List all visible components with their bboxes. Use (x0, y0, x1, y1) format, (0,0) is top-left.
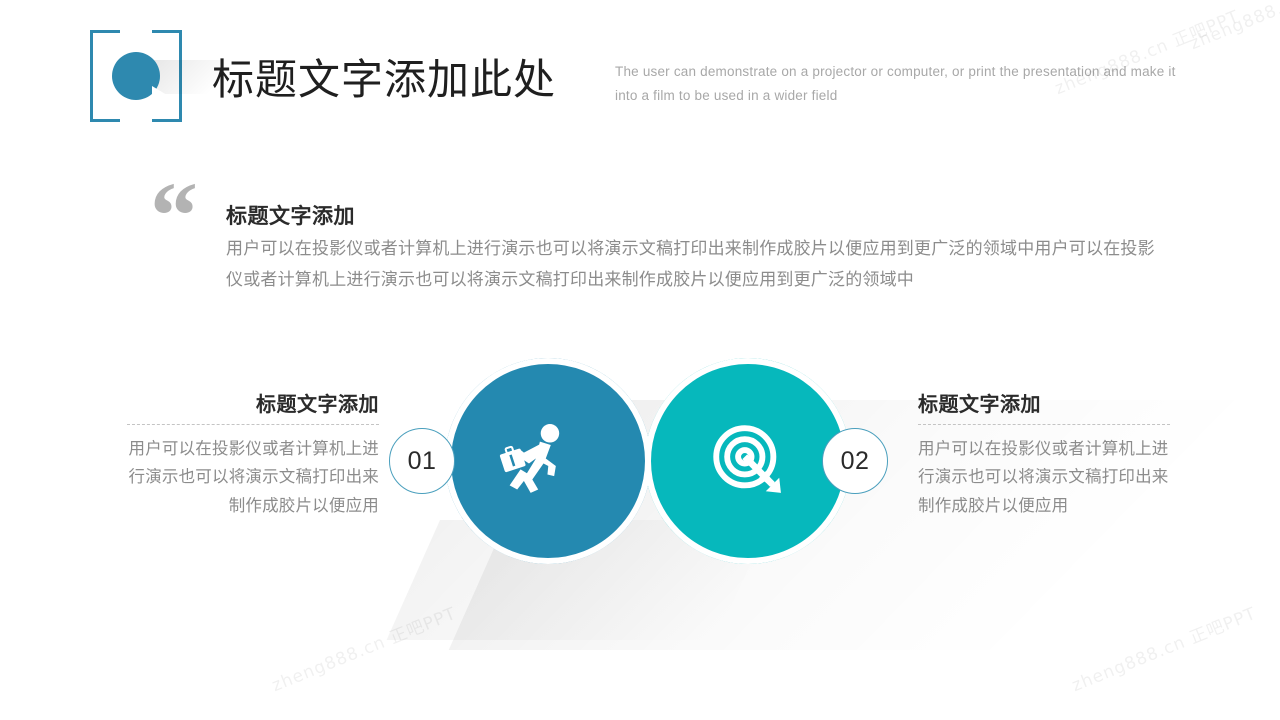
quote-heading: 标题文字添加 (226, 200, 355, 230)
diagram-body-01: 用户可以在投影仪或者计算机上进行演示也可以将演示文稿打印出来制作成胶片以便应用 (127, 435, 379, 520)
page-title: 标题文字添加此处 (212, 46, 556, 107)
watermark: zheng888.cn 正吧PPT (1185, 0, 1280, 54)
diagram-title-01: 标题文字添加 (127, 394, 379, 416)
quote-body-text: 用户可以在投影仪或者计算机上进行演示也可以将演示文稿打印出来制作成胶片以便应用到… (226, 233, 1160, 296)
diagram-title-02: 标题文字添加 (918, 394, 1170, 416)
running-businessman-icon (492, 419, 576, 503)
diagram-divider-01 (127, 424, 379, 425)
diagram-text-block-01: 标题文字添加 用户可以在投影仪或者计算机上进行演示也可以将演示文稿打印出来制作成… (127, 394, 379, 520)
diagram-badge-01[interactable]: 01 (389, 428, 455, 494)
diagram-body-02: 用户可以在投影仪或者计算机上进行演示也可以将演示文稿打印出来制作成胶片以便应用 (918, 435, 1170, 520)
slide-canvas: 标题文字添加此处 The user can demonstrate on a p… (0, 0, 1280, 720)
play-triangle-icon (152, 86, 167, 104)
watermark: zheng888.cn 正吧PPT (1067, 599, 1259, 696)
diagram-text-block-02: 标题文字添加 用户可以在投影仪或者计算机上进行演示也可以将演示文稿打印出来制作成… (918, 394, 1170, 520)
diagram-badge-02[interactable]: 02 (822, 428, 888, 494)
target-arrow-icon (707, 419, 791, 503)
diagram-divider-02 (918, 424, 1170, 425)
quotation-mark-icon: “ (150, 168, 198, 264)
play-circle-icon (112, 52, 160, 100)
header-description: The user can demonstrate on a projector … (615, 60, 1185, 107)
watermark: zheng888.cn 正吧PPT (267, 599, 459, 696)
logo-frame (90, 30, 182, 122)
